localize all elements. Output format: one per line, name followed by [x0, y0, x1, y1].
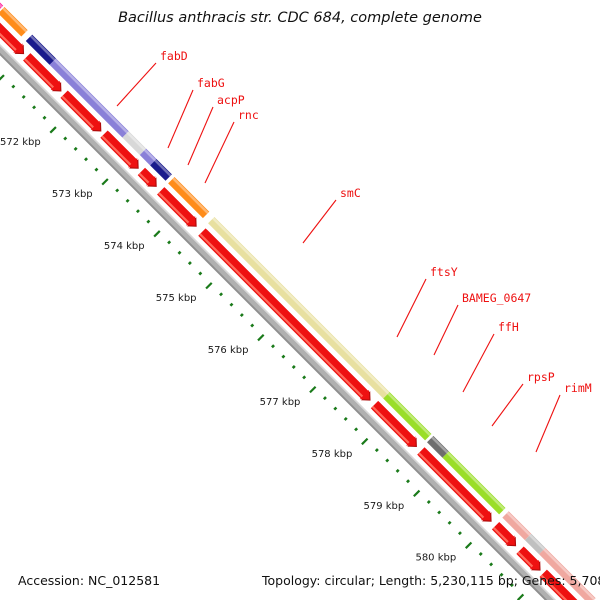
scale-tick-minor	[116, 189, 118, 191]
scale-tick-minor	[95, 169, 97, 171]
feature-bar[interactable]	[386, 393, 430, 437]
gene-leader-line	[168, 90, 193, 148]
scale-tick-minor	[43, 117, 45, 119]
gene-label[interactable]: ffH	[498, 320, 519, 334]
feature-bar[interactable]	[153, 160, 170, 177]
scale-tick-minor	[241, 314, 243, 316]
gene-label[interactable]: rnc	[238, 108, 259, 122]
scale-tick-label: 572 kbp	[0, 137, 41, 148]
gene-arrow[interactable]	[198, 228, 370, 400]
scale-tick-major	[518, 594, 524, 600]
scale-tick-major	[362, 439, 368, 445]
gene-leader-line	[536, 395, 560, 452]
feature-bar-body	[126, 134, 143, 151]
gene-label[interactable]: smC	[340, 186, 361, 200]
accession-label: Accession: NC_012581	[18, 573, 160, 588]
scale-tick-minor	[85, 158, 87, 160]
gene-leader-line	[434, 305, 458, 355]
scale-tick-minor	[33, 106, 35, 108]
gene-leader-line	[205, 122, 234, 183]
scale-tick-major	[206, 283, 212, 289]
scale-tick-minor	[64, 137, 66, 139]
scale-tick-minor	[147, 221, 149, 223]
scale-tick-minor	[376, 449, 378, 451]
scale-tick-label: 577 kbp	[260, 397, 301, 408]
scale-tick-major	[414, 491, 420, 497]
gene-label[interactable]: ftsY	[430, 265, 458, 279]
scale-tick-minor	[199, 272, 201, 274]
scale-tick-major	[258, 335, 264, 341]
feature-bar[interactable]	[430, 437, 447, 454]
feature-bar[interactable]	[211, 218, 388, 395]
scale-tick-major	[466, 543, 472, 549]
scale-tick-minor	[178, 252, 180, 254]
feature-bar[interactable]	[0, 0, 2, 9]
page-title: Bacillus anthracis str. CDC 684, complet…	[118, 10, 482, 26]
scale-tick-minor	[407, 480, 409, 482]
gene-label[interactable]: rimM	[564, 381, 592, 395]
scale-tick-minor	[251, 324, 253, 326]
scale-tick-label: 574 kbp	[104, 241, 145, 252]
gene-label[interactable]: BAMEG_0647	[462, 291, 531, 305]
scale-tick-minor	[386, 459, 388, 461]
scale-tick-minor	[428, 501, 430, 503]
scale-tick-major	[50, 127, 56, 133]
gene-label[interactable]: rpsP	[527, 370, 555, 384]
scale-tick-label: 578 kbp	[312, 449, 353, 460]
feature-bar[interactable]	[528, 535, 544, 551]
scale-tick-minor	[23, 96, 25, 98]
gene-label[interactable]: fabD	[160, 49, 188, 63]
scale-tick-label: 575 kbp	[156, 293, 197, 304]
scale-tick-label: 573 kbp	[52, 189, 93, 200]
scale-tick-minor	[490, 563, 492, 565]
scale-tick-minor	[137, 210, 139, 212]
scale-tick-minor	[220, 293, 222, 295]
scale-tick-minor	[282, 356, 284, 358]
scale-tick-minor	[355, 428, 357, 430]
gene-leader-line	[492, 384, 523, 426]
gene-leader-line	[397, 279, 426, 337]
gene-arrow-highlight	[200, 234, 362, 396]
scale-tick-minor	[324, 397, 326, 399]
gene-label[interactable]: acpP	[217, 93, 245, 107]
gene-leader-line	[463, 334, 494, 392]
scale-tick-minor	[397, 470, 399, 472]
scale-tick-minor	[230, 304, 232, 306]
scale-tick-minor	[272, 345, 274, 347]
scale-tick-minor	[127, 200, 129, 202]
gene-label-group: fabDfabGacpPrncsmCftsYBAMEG_0647ffHrpsPr…	[160, 49, 592, 395]
feature-bar-highlight	[213, 218, 388, 393]
gene-leader-line	[188, 107, 213, 165]
genome-summary-label: Topology: circular; Length: 5,230,115 bp…	[261, 573, 600, 588]
feature-bar[interactable]	[143, 150, 155, 162]
gene-label[interactable]: fabG	[197, 76, 225, 90]
scale-tick-minor	[459, 532, 461, 534]
feature-bar-body	[153, 162, 168, 177]
feature-bar-body	[430, 439, 445, 454]
scale-tick-label: 580 kbp	[415, 553, 456, 564]
gene-arrow-body	[198, 228, 369, 399]
scale-tick-major	[310, 387, 316, 393]
gene-arrow-body	[138, 168, 156, 186]
feature-bar-body	[211, 220, 386, 395]
scale-tick-minor	[480, 553, 482, 555]
scale-tick-major	[102, 179, 108, 185]
scale-tick-minor	[438, 511, 440, 513]
genome-map-canvas: Bacillus anthracis str. CDC 684, complet…	[0, 0, 600, 600]
feature-bar[interactable]	[126, 133, 145, 152]
scale-tick-label: 576 kbp	[208, 345, 249, 356]
scale-tick-minor	[303, 376, 305, 378]
scale-tick-minor	[334, 407, 336, 409]
scale-tick-minor	[189, 262, 191, 264]
scale-tick-major	[0, 75, 4, 81]
scale-tick-minor	[293, 366, 295, 368]
scale-tick-minor	[75, 148, 77, 150]
scale-tick-minor	[12, 85, 14, 87]
scale-tick-label: 579 kbp	[364, 501, 405, 512]
scale-tick-minor	[449, 522, 451, 524]
gene-leader-line	[303, 200, 336, 243]
scale-tick-minor	[168, 241, 170, 243]
scale-tick-minor	[345, 418, 347, 420]
gene-arrow[interactable]	[138, 168, 157, 187]
scale-tick-major	[154, 231, 160, 237]
gene-leader-line	[117, 63, 156, 106]
